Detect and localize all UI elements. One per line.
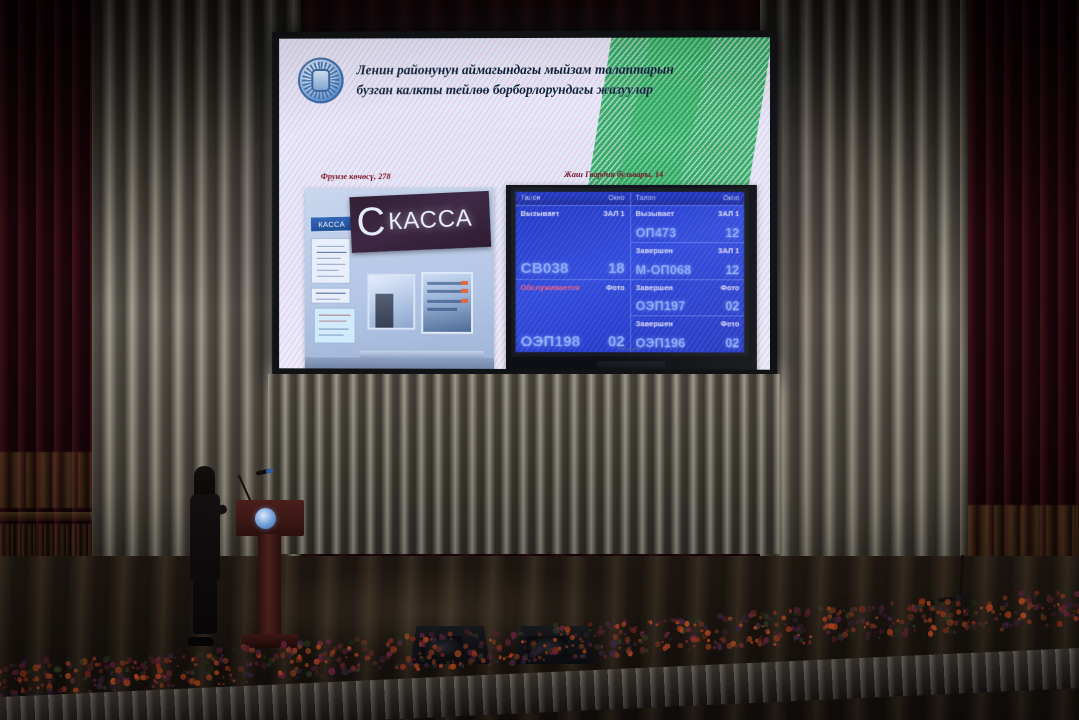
notice-board-schedule bbox=[311, 238, 351, 284]
queue-window-label: Фото bbox=[606, 283, 625, 292]
queue-window-number: 02 bbox=[725, 299, 739, 313]
header-window-left: Окно bbox=[608, 195, 624, 202]
tv-stand bbox=[597, 361, 665, 370]
queue-ticket-code: ОП473 bbox=[636, 226, 677, 240]
notice-board-info bbox=[314, 308, 356, 344]
queue-window-label: ЗАЛ 1 bbox=[603, 209, 624, 218]
kassa-logo-letter: C bbox=[356, 202, 385, 243]
queue-display-photo: Талон Окно Талон Окно Вызывает bbox=[506, 185, 757, 370]
queue-window-label: Фото bbox=[721, 283, 740, 292]
queue-window-label: ЗАЛ 1 bbox=[718, 209, 739, 218]
queue-ticket-code: СВ038 bbox=[521, 259, 569, 276]
auditorium-stage-scene: Ленин районунун аймагындагы мыйзам талап… bbox=[0, 0, 1079, 720]
district-emblem-icon bbox=[298, 57, 344, 103]
queue-row: Вызывает ЗАЛ 1 СВ038 18 bbox=[516, 206, 630, 280]
queue-ticket-code: ОЭП196 bbox=[636, 336, 686, 350]
slide-surface: Ленин районунун аймагындагы мыйзам талап… bbox=[279, 37, 770, 369]
presentation-screen[interactable]: Ленин районунун аймагындагы мыйзам талап… bbox=[272, 30, 777, 377]
queue-row: Завершен Фото ОЭП196 02 bbox=[631, 316, 745, 352]
kassa-wall-plate: КАССА bbox=[310, 216, 354, 233]
notice-board-tariffs bbox=[311, 288, 351, 304]
caption-address-left: Фрунзе көчөсү, 278 bbox=[321, 172, 391, 181]
queue-row: Завершен ЗАЛ 1 М-ОП068 12 bbox=[631, 243, 745, 280]
queue-window-label: ЗАЛ 1 bbox=[718, 246, 739, 255]
queue-window-label: Фото bbox=[721, 319, 740, 328]
queue-window-number: 12 bbox=[725, 226, 739, 240]
queue-board-header: Талон Окно Талон Окно bbox=[516, 192, 745, 207]
queue-window-number: 02 bbox=[725, 336, 739, 350]
tv-brand-label: SHIVAKI bbox=[618, 346, 643, 351]
queue-row: Завершен Фото ОЭП197 02 bbox=[631, 280, 745, 317]
queue-row: Обслуживается Фото ОЭП198 02 bbox=[516, 280, 630, 353]
booth-window bbox=[367, 274, 415, 330]
cashier-booth-photo: КАССА C КАССА bbox=[305, 188, 494, 370]
queue-window-number: 12 bbox=[725, 263, 739, 277]
queue-ticket-code: М-ОП068 bbox=[636, 263, 692, 277]
slide-title: Ленин районунун аймагындагы мыйзам талап… bbox=[357, 60, 697, 100]
kassa-banner-sign: C КАССА bbox=[349, 191, 491, 253]
header-window-right: Окно bbox=[723, 195, 739, 202]
header-ticket-left: Талон bbox=[521, 195, 541, 202]
queue-column-left: Вызывает ЗАЛ 1 СВ038 18 Обслуживается Фо… bbox=[516, 206, 630, 353]
queue-row: Вызывает ЗАЛ 1 ОП473 12 bbox=[631, 206, 745, 243]
tv-monitor: Талон Окно Талон Окно Вызывает bbox=[512, 188, 749, 357]
kassa-banner-text: КАССА bbox=[388, 205, 473, 237]
booth-poster bbox=[421, 272, 473, 334]
screen-skirt-curtain bbox=[268, 374, 780, 554]
header-ticket-right: Талон bbox=[636, 195, 656, 202]
podium-emblem-icon bbox=[255, 508, 276, 529]
caption-address-right: Жаш Гвардия бульвары, 14 bbox=[564, 170, 663, 179]
queue-window-number: 18 bbox=[608, 260, 625, 277]
queue-ticket-code: ОЭП198 bbox=[521, 333, 581, 350]
queue-ticket-code: ОЭП197 bbox=[636, 299, 686, 313]
queue-board-screen: Талон Окно Талон Окно Вызывает bbox=[516, 192, 745, 353]
queue-column-right: Вызывает ЗАЛ 1 ОП473 12 Завершен ЗАЛ 1 М… bbox=[630, 206, 745, 352]
